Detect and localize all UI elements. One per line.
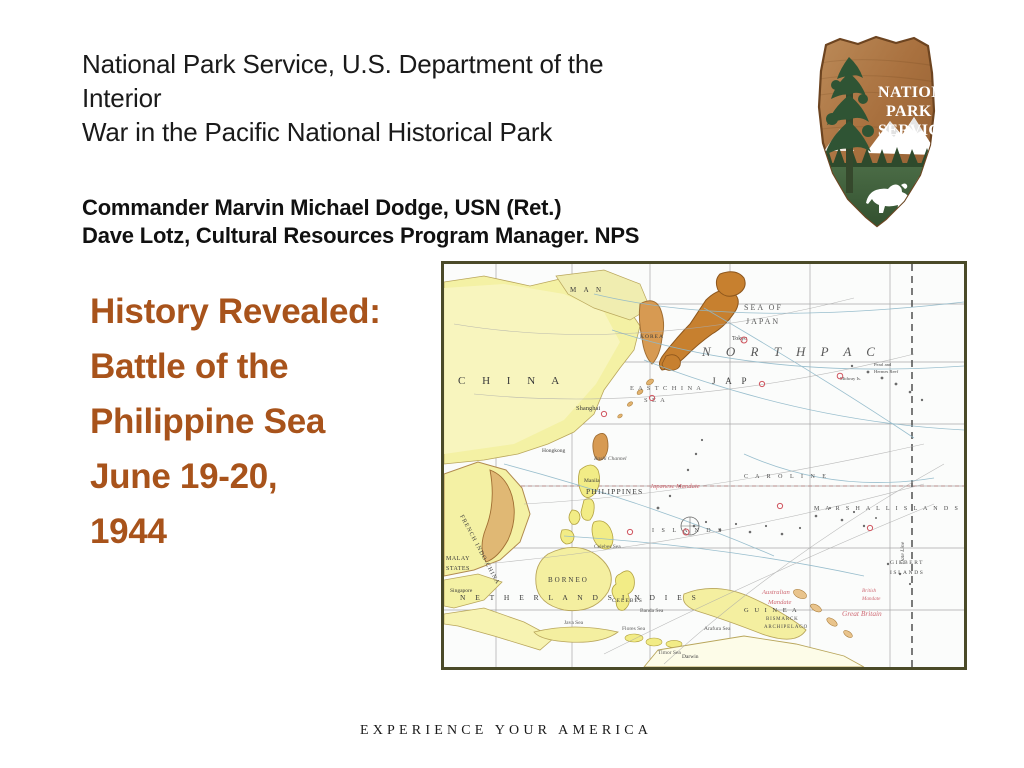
map-label-marshall-islands: M A R S H A L L I S L A N D S xyxy=(814,506,960,512)
title-line-4: June 19-20, xyxy=(90,449,440,504)
map-label-korea: KOREA xyxy=(640,334,664,340)
map-label-sea-of-japan-2: JAPAN xyxy=(746,317,780,326)
map-label-manchuria: M A N xyxy=(570,286,604,294)
byline-author-1: Commander Marvin Michael Dodge, USN (Ret… xyxy=(82,194,762,222)
map-label-caroline-islands-2: I S L A N D S xyxy=(652,528,724,534)
page-title: History Revealed: Battle of the Philippi… xyxy=(90,284,440,559)
byline-block: Commander Marvin Michael Dodge, USN (Ret… xyxy=(82,194,762,250)
map-annotation-date-line: Date Line xyxy=(900,541,906,565)
map-label-singapore: Singapore xyxy=(450,588,473,594)
logo-wordmark: NATIONAL PARK SERVICE xyxy=(878,84,948,139)
nps-arrowhead-logo: NATIONAL PARK SERVICE xyxy=(806,33,948,229)
map-label-banda-sea: Banda Sea xyxy=(640,608,664,614)
title-line-3: Philippine Sea xyxy=(90,394,440,449)
map-label-malay-states: MALAY xyxy=(446,556,470,562)
map-annotation-british-mandate: British xyxy=(862,588,877,594)
title-line-1: History Revealed: xyxy=(90,284,440,339)
map-label-flores-sea: Flores Sea xyxy=(622,626,646,632)
park-name-line: War in the Pacific National Historical P… xyxy=(82,115,722,149)
title-line-5: 1944 xyxy=(90,504,440,559)
map-label-east-china-sea: E A S T C H I N A xyxy=(630,385,702,392)
map-label-gilbert-islands-2: ISLANDS xyxy=(890,570,924,576)
map-annotation-japanese-mandate: Japanese Mandate xyxy=(650,483,700,490)
map-label-bismarck-archipelago-2: ARCHIPELAGO xyxy=(764,625,808,630)
byline-author-2: Dave Lotz, Cultural Resources Program Ma… xyxy=(82,222,762,250)
map-annotation-great-britain: Great Britain xyxy=(842,609,882,618)
map-label-manila: Manila xyxy=(584,478,600,484)
map-annotation-british-mandate-2: Mandate xyxy=(861,596,881,602)
map-label-new-guinea: G U I N E A xyxy=(744,607,799,614)
map-label-darwin: Darwin xyxy=(682,654,699,660)
map-label-malay-states-2: STATES xyxy=(446,566,470,572)
map-label-celebes: CELEBES xyxy=(612,598,643,604)
logo-text-national: NATIONAL xyxy=(878,84,948,101)
map-label-caroline-islands: C A R O L I N E xyxy=(744,474,829,480)
logo-text-service: SERVICE xyxy=(878,122,948,139)
footer-tagline: EXPERIENCE YOUR AMERICA xyxy=(360,721,660,740)
map-label-japan: J A P xyxy=(712,376,751,386)
map-label-arafura-sea: Arafura Sea xyxy=(704,625,731,632)
map-annotation-australian-mandate-2: Mandate xyxy=(767,599,792,606)
map-label-celebes-sea: Celebes Sea xyxy=(594,544,621,550)
org-line-1: National Park Service, U.S. Department o… xyxy=(82,47,722,81)
logo-text-park: PARK xyxy=(886,103,932,120)
map-label-gilbert-islands: GILBERT xyxy=(890,560,924,566)
map-label-java-sea: Java Sea xyxy=(564,620,584,626)
map-label-china: C H I N A xyxy=(458,375,566,387)
map-label-hongkong: Hongkong xyxy=(542,448,565,454)
map-label-timor-sea: Timor Sea xyxy=(658,650,681,656)
map-label-bismarck-archipelago: BISMARCK xyxy=(766,617,799,622)
map-annotation-australian-mandate: Australian xyxy=(761,589,791,596)
org-line-2: Interior xyxy=(82,81,722,115)
map-label-shanghai: Shanghai xyxy=(576,405,600,412)
title-line-2: Battle of the xyxy=(90,339,440,394)
map-label-bashi-channel: Bashi Channel xyxy=(594,456,627,462)
map-label-borneo: BORNEO xyxy=(548,576,589,584)
western-pacific-theater-map: N O R T H P A C SEA OF JAPAN E A S T C H… xyxy=(441,261,967,670)
map-label-north-pacific: N O R T H P A C xyxy=(701,344,881,359)
map-label-netherlands-indies: N E T H E R L A N D S I N D I E S xyxy=(460,593,700,602)
map-label-philippines: PHILIPPINES xyxy=(586,487,643,496)
map-label-sea-of-japan: SEA OF xyxy=(744,303,783,312)
map-label-pearl-hermes-reef-2: Hermes Reef xyxy=(874,369,899,374)
slide-header: National Park Service, U.S. Department o… xyxy=(82,47,722,149)
map-label-pearl-hermes-reef: Pearl and xyxy=(874,362,892,367)
